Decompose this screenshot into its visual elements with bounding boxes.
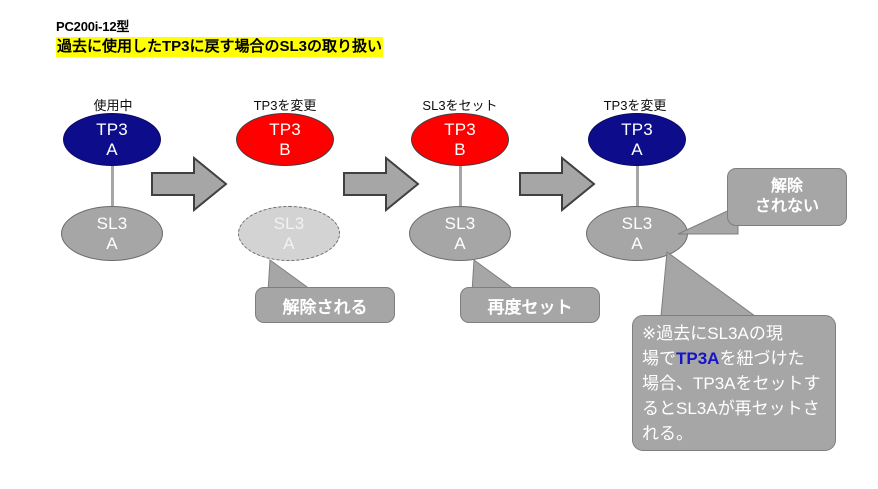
node-sl3-stage4-line2: A <box>631 234 643 254</box>
node-sl3-stage3: SL3 A <box>409 206 511 261</box>
node-sl3-stage2-released: SL3 A <box>238 206 340 261</box>
flow-arrow-2 <box>342 155 420 213</box>
callout-reset-text: 再度セット <box>488 293 573 318</box>
node-tp3-stage1-line2: A <box>106 140 118 160</box>
node-sl3-stage1-line2: A <box>106 234 118 254</box>
callout-note-line3: 場合、TP3Aをセットす <box>642 371 821 396</box>
process-flow-diagram: 使用中 TP3を変更 SL3をセット TP3を変更 TP3 A SL3 A TP… <box>0 0 878 489</box>
stage-label-2: TP3を変更 <box>230 98 340 114</box>
callout-note-text: ※過去にSL3Aの現 場でTP3Aを紐づけた 場合、TP3Aをセットす るとSL… <box>642 321 821 446</box>
node-sl3-stage4-line1: SL3 <box>622 214 653 234</box>
node-tp3-stage2: TP3 B <box>236 113 334 166</box>
callout-note-highlight-tp3a: TP3A <box>676 349 719 368</box>
callout-released: 解除される <box>255 287 395 323</box>
node-tp3-stage2-line1: TP3 <box>269 120 301 140</box>
callout-note-line4: るとSL3Aが再セットさ <box>642 396 821 421</box>
node-tp3-stage1-line1: TP3 <box>96 120 128 140</box>
node-tp3-stage4-line2: A <box>631 140 643 160</box>
callout-released-text: 解除される <box>283 293 368 318</box>
callout-note: ※過去にSL3Aの現 場でTP3Aを紐づけた 場合、TP3Aをセットす るとSL… <box>632 315 836 451</box>
callout-not-released: 解除 されない <box>727 168 847 226</box>
node-sl3-stage1-line1: SL3 <box>97 214 128 234</box>
node-sl3-stage2-line2: A <box>283 234 295 254</box>
node-sl3-stage2-line1: SL3 <box>274 214 305 234</box>
callout-not-released-line1: 解除 <box>771 177 803 197</box>
callout-note-line1: ※過去にSL3Aの現 <box>642 321 821 346</box>
callout-not-released-line2: されない <box>755 197 819 217</box>
node-sl3-stage1: SL3 A <box>61 206 163 261</box>
node-tp3-stage1: TP3 A <box>63 113 161 166</box>
callout-note-line2-b: を紐づけた <box>719 349 804 368</box>
stage-label-3: SL3をセット <box>405 98 515 114</box>
node-tp3-stage3: TP3 B <box>411 113 509 166</box>
flow-arrow-3 <box>518 155 596 213</box>
callout-reset: 再度セット <box>460 287 600 323</box>
node-tp3-stage2-line2: B <box>279 140 291 160</box>
node-tp3-stage4: TP3 A <box>588 113 686 166</box>
node-tp3-stage3-line2: B <box>454 140 466 160</box>
flow-arrow-1 <box>150 155 228 213</box>
stage-label-4: TP3を変更 <box>580 98 690 114</box>
node-sl3-stage3-line1: SL3 <box>445 214 476 234</box>
callout-note-line2-a: 場で <box>642 349 676 368</box>
callout-note-line2: 場でTP3Aを紐づけた <box>642 346 821 371</box>
node-tp3-stage3-line1: TP3 <box>444 120 476 140</box>
node-tp3-stage4-line1: TP3 <box>621 120 653 140</box>
callout-tail-note <box>655 250 765 322</box>
callout-note-line5: れる。 <box>642 421 821 446</box>
node-sl3-stage3-line2: A <box>454 234 466 254</box>
stage-label-1: 使用中 <box>58 98 168 114</box>
